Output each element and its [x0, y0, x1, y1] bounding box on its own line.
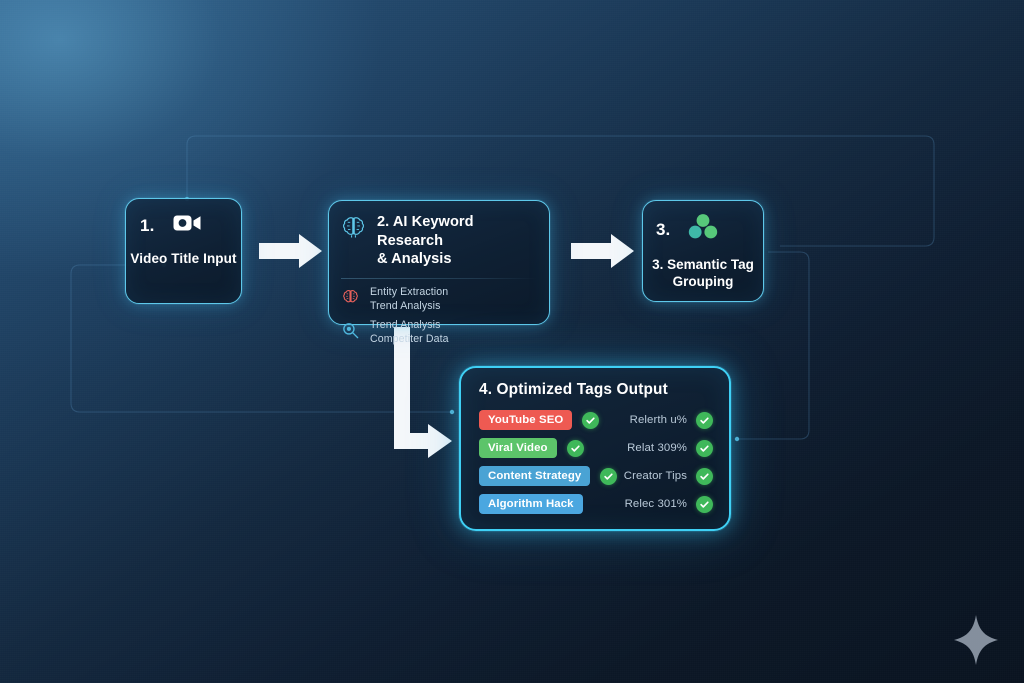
tag-metric: Creator Tips	[624, 470, 687, 482]
node1-number: 1.	[140, 216, 155, 236]
tag-row: Viral Video Relat 309%	[479, 438, 713, 458]
node3-label: 3. Semantic Tag Grouping	[643, 257, 763, 291]
check-icon[interactable]	[696, 496, 713, 513]
tag-pill[interactable]: Viral Video	[479, 438, 557, 458]
node1-label: Video Title Input	[126, 251, 241, 266]
node2-title-line1: 2. AI Keyword Research	[377, 213, 537, 250]
node3-number: 3.	[656, 220, 670, 240]
check-icon[interactable]	[696, 468, 713, 485]
node2-title-line2: & Analysis	[377, 250, 537, 269]
tag-row: Content Strategy Creator Tips	[479, 466, 713, 486]
node3-header: 3.	[643, 201, 763, 246]
node-semantic-tag-grouping[interactable]: 3. 3. Semantic Tag Grouping	[642, 200, 764, 302]
tag-left-cell: YouTube SEO	[479, 410, 599, 430]
tag-metric: Relerth u%	[630, 414, 687, 426]
node2-feature-row: Trend Analysis Competiter Data	[341, 319, 537, 346]
arrow-node2-to-node4	[394, 327, 452, 458]
check-icon[interactable]	[696, 412, 713, 429]
arrow-node1-to-node2	[259, 234, 322, 268]
node2-feature-line2: Trend Analysis	[370, 300, 448, 314]
arrow-node2-to-node3	[571, 234, 634, 268]
node2-feature-line2: Competiter Data	[370, 333, 449, 347]
tag-right-cell: Creator Tips	[624, 468, 713, 485]
tag-metric: Relec 301%	[625, 498, 687, 510]
node1-header: 1.	[126, 199, 241, 238]
tag-left-cell: Content Strategy	[479, 466, 617, 486]
magnifier-icon	[341, 321, 360, 345]
node2-feature-line1: Trend Analysis	[370, 319, 449, 333]
node2-feature-text: Trend Analysis Competiter Data	[370, 319, 449, 346]
node3-label-line1: 3. Semantic Tag	[649, 257, 757, 274]
tag-left-cell: Viral Video	[479, 438, 584, 458]
tag-right-cell: Relerth u%	[630, 412, 713, 429]
node-optimized-tags-output[interactable]: 4. Optimized Tags Output YouTube SEO Rel…	[459, 366, 731, 531]
node4-title: 4. Optimized Tags Output	[461, 368, 729, 399]
node2-header: 2. AI Keyword Research & Analysis	[329, 201, 549, 269]
tag-metric: Relat 309%	[627, 442, 687, 454]
node2-feature-text: Entity Extraction Trend Analysis	[370, 286, 448, 313]
cluster-dots-icon	[686, 213, 720, 246]
check-icon[interactable]	[696, 440, 713, 457]
check-icon[interactable]	[582, 412, 599, 429]
tag-pill[interactable]: Content Strategy	[479, 466, 590, 486]
diagram-canvas: 1. Video Title Input	[0, 0, 1024, 683]
brain-icon	[341, 215, 366, 269]
tag-left-cell: Algorithm Hack	[479, 494, 583, 514]
brain-red-icon	[341, 288, 360, 312]
tag-row: YouTube SEO Relerth u%	[479, 410, 713, 430]
tag-pill[interactable]: YouTube SEO	[479, 410, 572, 430]
node-ai-keyword-research[interactable]: 2. AI Keyword Research & Analysis Ent	[328, 200, 550, 325]
node2-feature-row: Entity Extraction Trend Analysis	[341, 286, 537, 313]
tag-pill[interactable]: Algorithm Hack	[479, 494, 583, 514]
check-icon[interactable]	[600, 468, 617, 485]
check-icon[interactable]	[567, 440, 584, 457]
node-video-title-input[interactable]: 1. Video Title Input	[125, 198, 242, 304]
tags-list: YouTube SEO Relerth u% Viral Video	[461, 410, 729, 514]
node2-feature-line1: Entity Extraction	[370, 286, 448, 300]
sparkle-star-icon	[952, 614, 1000, 666]
video-camera-icon	[173, 213, 201, 238]
tag-right-cell: Relat 309%	[627, 440, 713, 457]
tag-row: Algorithm Hack Relec 301%	[479, 494, 713, 514]
node2-feature-list: Entity Extraction Trend Analysis Trend A…	[329, 279, 549, 346]
node3-label-line2: Grouping	[649, 274, 757, 291]
tag-right-cell: Relec 301%	[625, 496, 713, 513]
node2-title: 2. AI Keyword Research & Analysis	[377, 213, 537, 269]
